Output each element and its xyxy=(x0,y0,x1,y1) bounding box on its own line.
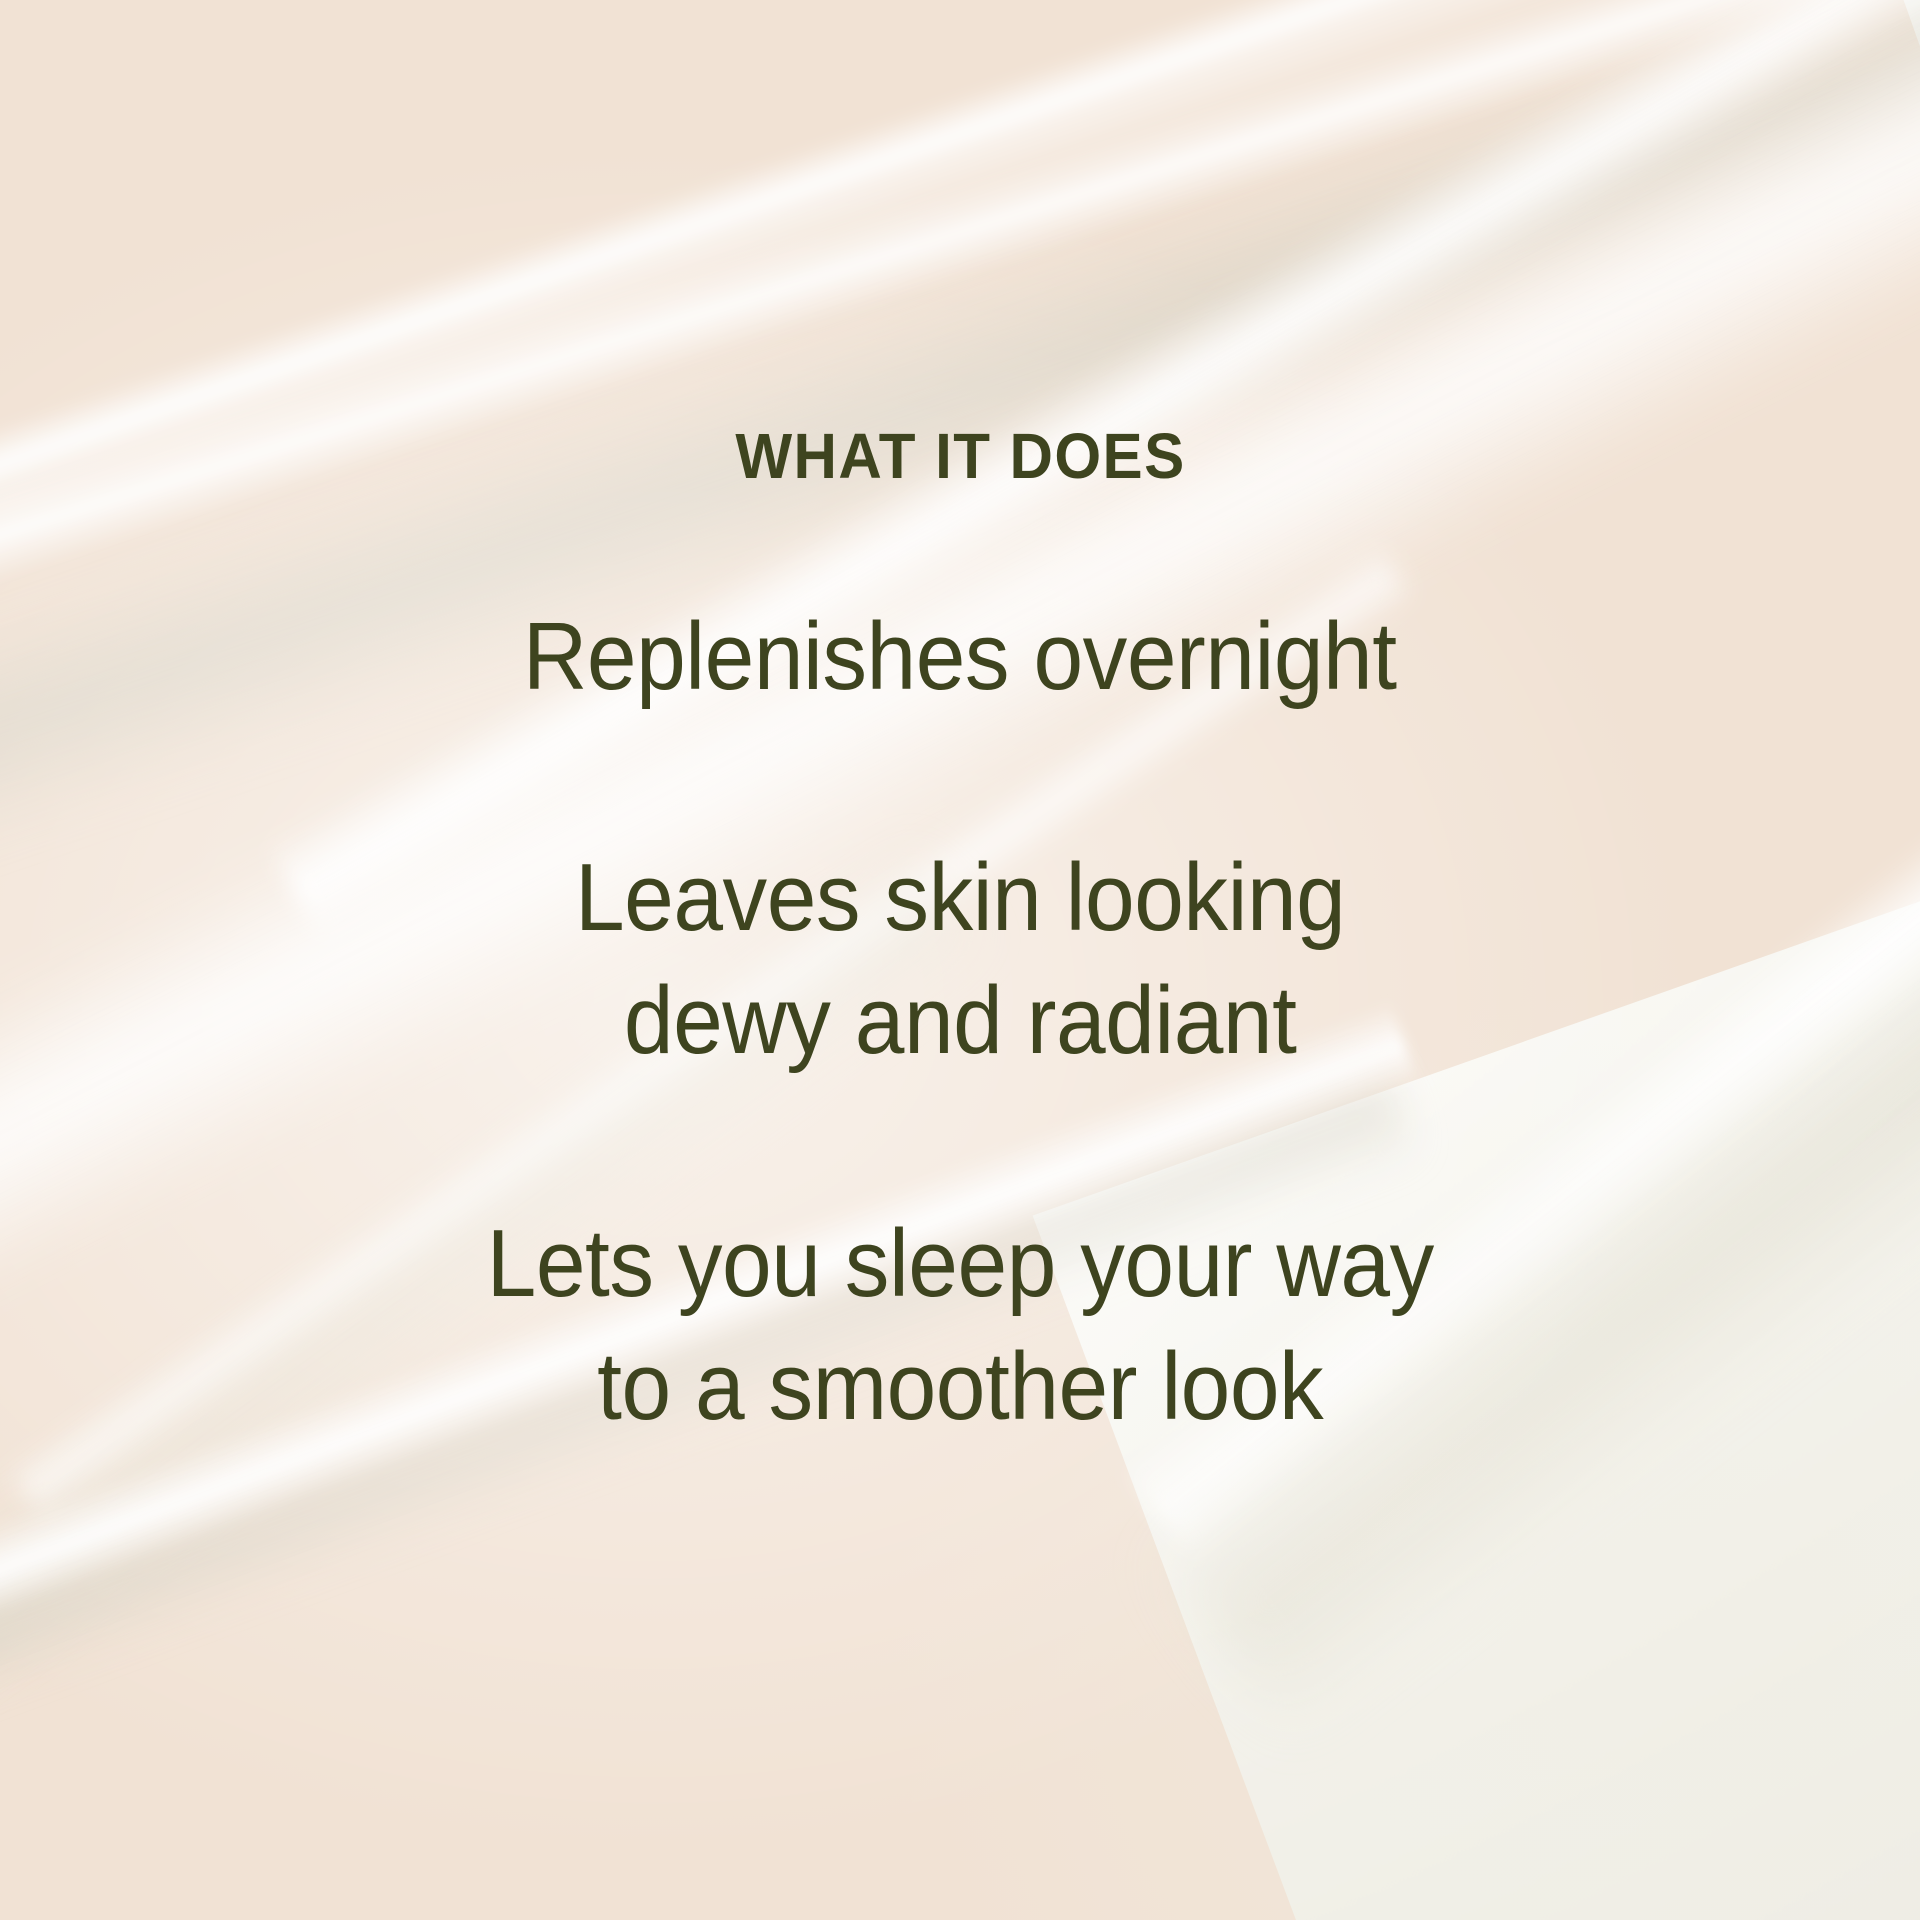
cream-swatch-artwork xyxy=(0,0,1920,1920)
product-benefits-card: WHAT IT DOES Replenishes overnight Leave… xyxy=(0,0,1920,1920)
